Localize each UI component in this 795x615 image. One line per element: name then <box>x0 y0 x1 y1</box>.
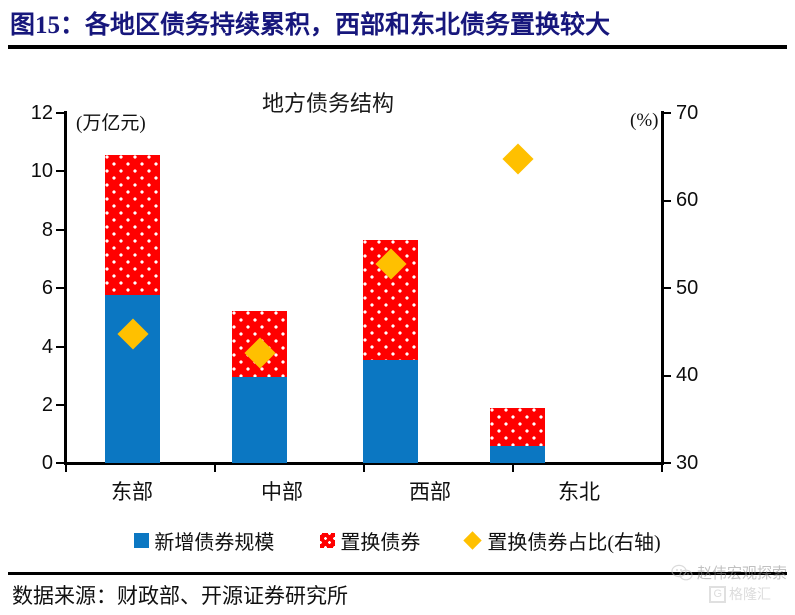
y2-axis-tick-label: 40 <box>676 364 698 387</box>
square-blue-icon <box>134 533 149 548</box>
y2-axis-tick <box>662 112 671 114</box>
watermark-logo-text: 格隆汇 <box>729 584 771 604</box>
diamond-yellow-icon <box>464 531 482 549</box>
x-axis-tick <box>363 463 365 472</box>
y-axis-tick-label: 4 <box>42 336 53 359</box>
x-axis-category-label: 东北 <box>519 476 639 506</box>
y-axis-tick <box>56 170 65 172</box>
plot-area <box>66 113 663 463</box>
ratio-marker-northeast[interactable] <box>502 143 533 174</box>
x-axis-tick <box>512 463 514 472</box>
y-axis-tick <box>56 112 65 114</box>
y-axis-tick-label: 8 <box>42 219 53 242</box>
gelonghui-mark-icon: G <box>709 586 726 603</box>
source-note: 数据来源：财政部、开源证券研究所 <box>12 580 348 610</box>
wechat-icon <box>671 564 693 582</box>
legend-item-swap-bond[interactable]: 置换债券 <box>320 526 420 555</box>
watermark: 赵伟宏观探索 G 格隆汇 <box>671 562 787 604</box>
y2-axis-tick <box>662 200 671 202</box>
y-axis-tick <box>56 346 65 348</box>
y-axis-tick <box>56 404 65 406</box>
x-axis-category-label: 东部 <box>72 476 192 506</box>
y-axis-tick-label: 6 <box>42 277 53 300</box>
y2-axis-tick <box>662 462 671 464</box>
chart-container: 地方债务结构 (万亿元) (%) 12 10 8 6 4 2 0 70 60 5… <box>0 58 795 558</box>
y-axis-tick-label: 2 <box>42 394 53 417</box>
x-axis-category-label: 西部 <box>370 476 490 506</box>
x-axis-tick <box>65 463 67 472</box>
x-axis-tick <box>214 463 216 472</box>
y2-axis-tick-label: 70 <box>676 102 698 125</box>
bar-segment-swap-bond[interactable] <box>105 155 160 295</box>
y-axis-tick-label: 12 <box>31 102 53 125</box>
y-axis-tick-label: 10 <box>31 160 53 183</box>
x-axis-category-label: 中部 <box>222 476 342 506</box>
y2-axis-tick-label: 60 <box>676 189 698 212</box>
watermark-account-name: 赵伟宏观探索 <box>697 562 787 583</box>
bar-segment-new-bond[interactable] <box>232 377 287 463</box>
chart-legend: 新增债券规模 置换债券 置换债券占比(右轴) <box>0 526 795 555</box>
y-axis-tick <box>56 229 65 231</box>
y-axis-tick <box>56 287 65 289</box>
bar-segment-new-bond[interactable] <box>363 360 418 464</box>
legend-label: 新增债券规模 <box>154 526 274 555</box>
y2-axis-tick-label: 50 <box>676 277 698 300</box>
y2-axis-tick-label: 30 <box>676 452 698 475</box>
legend-item-swap-ratio[interactable]: 置换债券占比(右轴) <box>466 526 660 555</box>
watermark-logo: G 格隆汇 <box>709 584 771 604</box>
figure-title: 图15：各地区债务持续累积，西部和东北债务置换较大 <box>10 4 790 42</box>
legend-item-new-bond[interactable]: 新增债券规模 <box>134 526 274 555</box>
x-axis-tick <box>661 463 663 472</box>
y-axis-tick-label: 0 <box>42 452 53 475</box>
bar-segment-swap-bond[interactable] <box>490 408 545 446</box>
watermark-wechat: 赵伟宏观探索 <box>671 562 787 583</box>
bar-segment-new-bond[interactable] <box>490 446 545 464</box>
square-red-dotted-icon <box>320 533 335 548</box>
title-divider <box>8 45 787 49</box>
y-axis-tick <box>56 462 65 464</box>
legend-label: 置换债券占比(右轴) <box>487 526 660 555</box>
y2-axis-tick <box>662 287 671 289</box>
legend-label: 置换债券 <box>340 526 420 555</box>
y2-axis-tick <box>662 375 671 377</box>
